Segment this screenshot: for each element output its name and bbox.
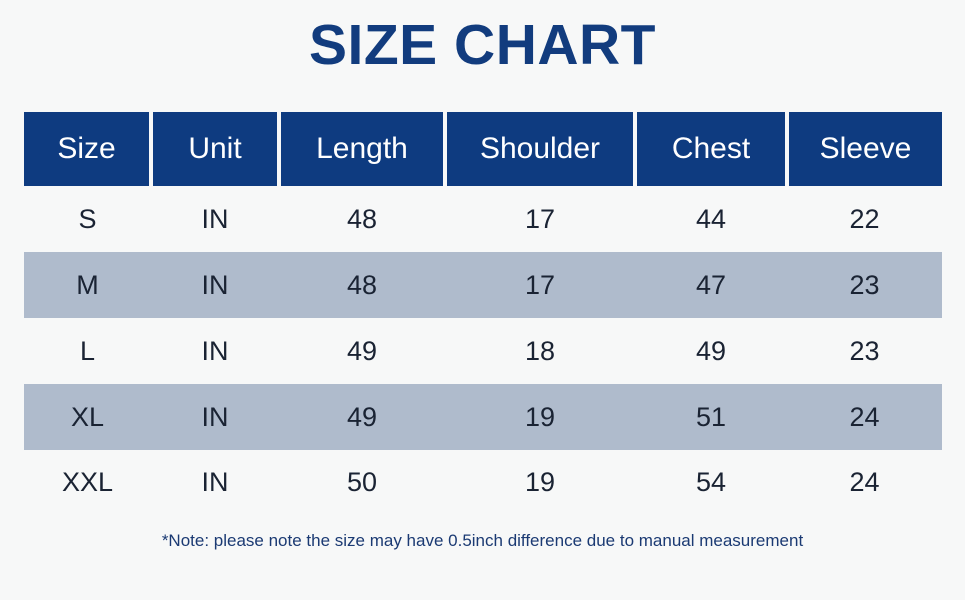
page-title: SIZE CHART [0, 14, 965, 77]
cell-unit: IN [151, 384, 279, 450]
cell-chest: 54 [635, 450, 787, 516]
cell-sleeve: 22 [787, 186, 943, 252]
cell-size: XL [23, 384, 151, 450]
cell-chest: 47 [635, 252, 787, 318]
column-header-unit: Unit [151, 112, 279, 186]
measurement-note: *Note: please note the size may have 0.5… [0, 531, 965, 551]
table-header: Size Unit Length Shoulder Chest Sleeve [23, 112, 943, 186]
cell-shoulder: 17 [445, 252, 635, 318]
cell-length: 49 [279, 318, 445, 384]
cell-unit: IN [151, 318, 279, 384]
header-row: Size Unit Length Shoulder Chest Sleeve [23, 112, 943, 186]
cell-shoulder: 17 [445, 186, 635, 252]
cell-length: 48 [279, 252, 445, 318]
cell-shoulder: 18 [445, 318, 635, 384]
cell-unit: IN [151, 186, 279, 252]
table-row: XL IN 49 19 51 24 [23, 384, 943, 450]
cell-sleeve: 24 [787, 384, 943, 450]
cell-size: S [23, 186, 151, 252]
cell-size: L [23, 318, 151, 384]
cell-size: M [23, 252, 151, 318]
table-body: S IN 48 17 44 22 M IN 48 17 47 23 L [23, 186, 943, 516]
cell-sleeve: 23 [787, 318, 943, 384]
cell-sleeve: 23 [787, 252, 943, 318]
cell-size: XXL [23, 450, 151, 516]
column-header-length: Length [279, 112, 445, 186]
column-header-shoulder: Shoulder [445, 112, 635, 186]
column-header-sleeve: Sleeve [787, 112, 943, 186]
cell-length: 50 [279, 450, 445, 516]
cell-length: 48 [279, 186, 445, 252]
cell-unit: IN [151, 252, 279, 318]
table-row: S IN 48 17 44 22 [23, 186, 943, 252]
size-table: Size Unit Length Shoulder Chest Sleeve S… [22, 112, 944, 517]
cell-shoulder: 19 [445, 384, 635, 450]
cell-sleeve: 24 [787, 450, 943, 516]
cell-shoulder: 19 [445, 450, 635, 516]
cell-unit: IN [151, 450, 279, 516]
cell-chest: 51 [635, 384, 787, 450]
column-header-chest: Chest [635, 112, 787, 186]
table-row: XXL IN 50 19 54 24 [23, 450, 943, 516]
size-table-container: Size Unit Length Shoulder Chest Sleeve S… [22, 112, 942, 517]
cell-length: 49 [279, 384, 445, 450]
table-row: L IN 49 18 49 23 [23, 318, 943, 384]
cell-chest: 44 [635, 186, 787, 252]
cell-chest: 49 [635, 318, 787, 384]
column-header-size: Size [23, 112, 151, 186]
table-row: M IN 48 17 47 23 [23, 252, 943, 318]
size-chart-page: SIZE CHART Size Unit Length Shoulder Che… [0, 0, 965, 600]
